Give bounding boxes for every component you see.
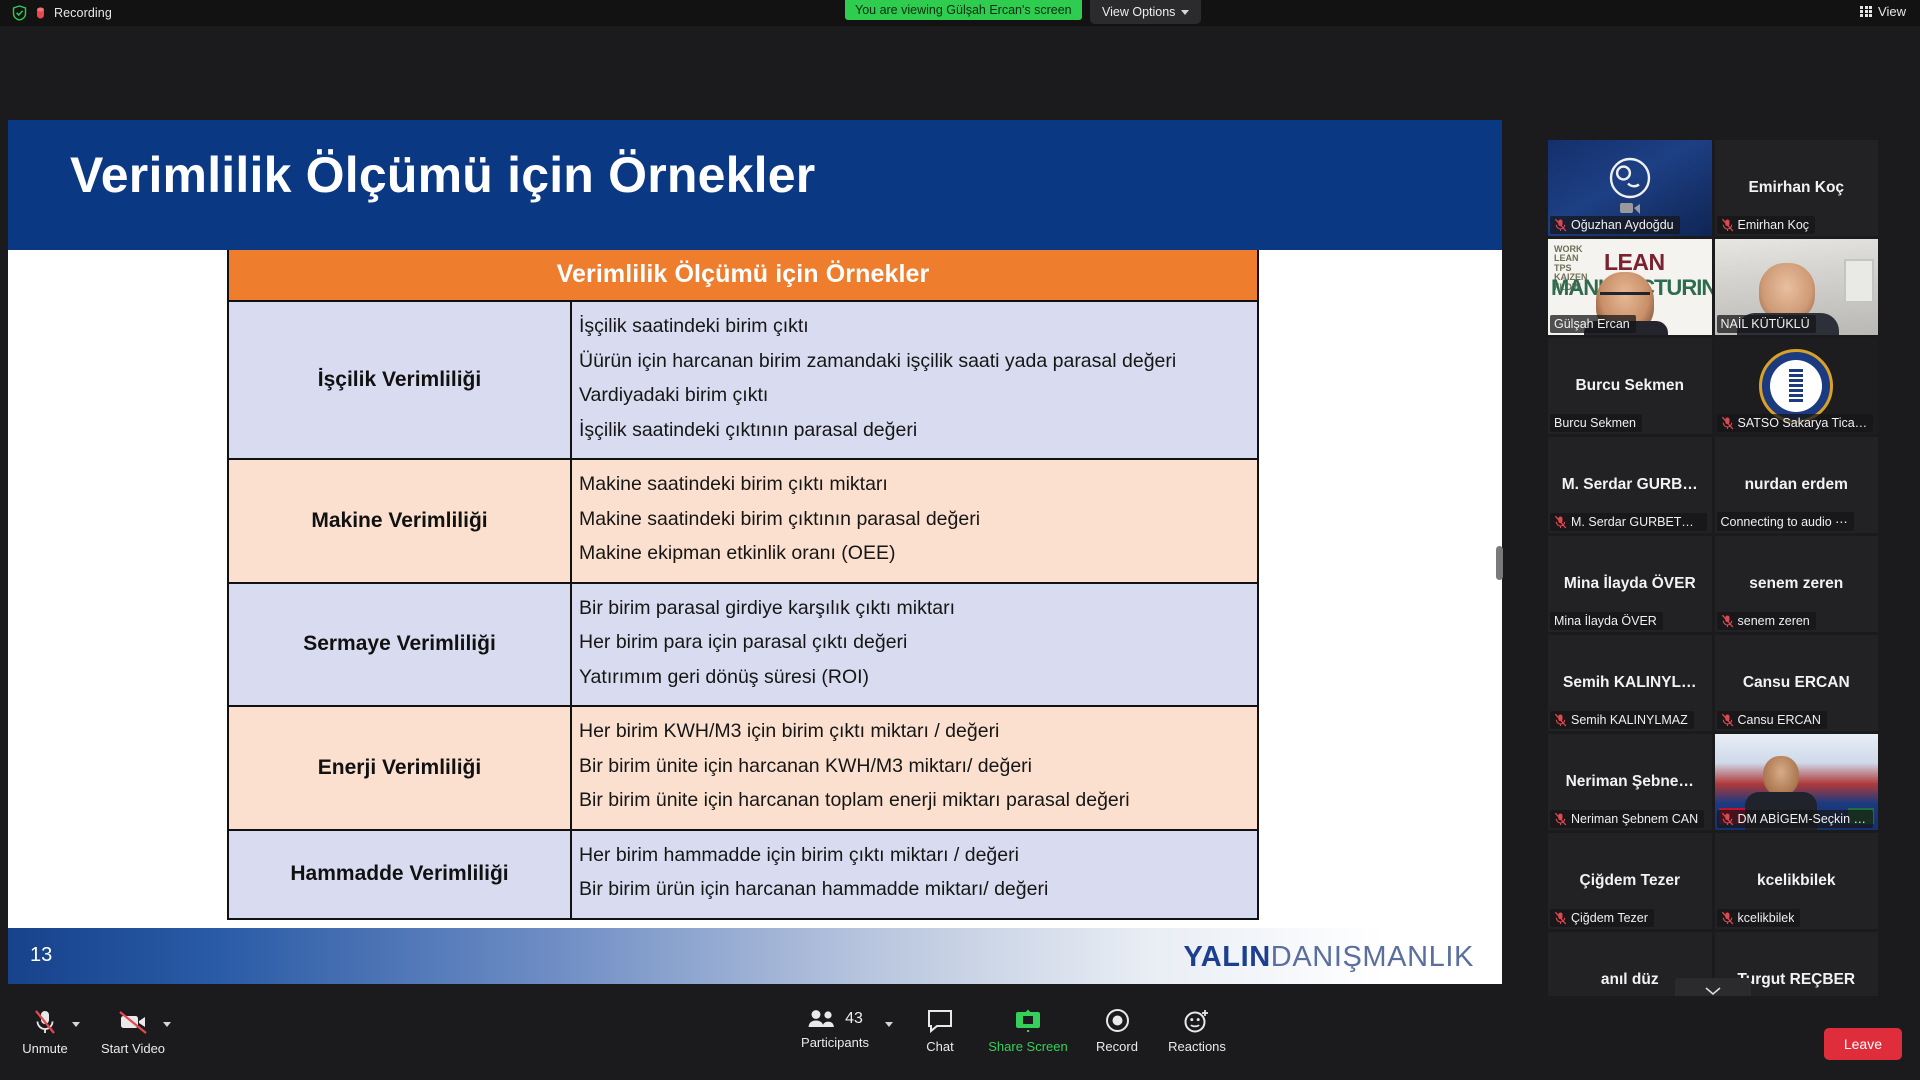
- participants-options-chevron-icon[interactable]: [885, 1022, 893, 1027]
- participant-tile[interactable]: WORKLEANTPSKAIZENFLOWLEANMANUFACTURINGGü…: [1548, 239, 1712, 335]
- logo-bold-text: YALIN: [1183, 941, 1270, 973]
- participant-name-label: Semih KALINYLMAZ: [1571, 713, 1688, 727]
- participant-name-badge: Çiğdem Tezer: [1550, 909, 1654, 927]
- row-value-item: Her birim para için parasal çıktı değeri: [579, 626, 1257, 661]
- table-row: Sermaye Verimliliği Bir birim parasal gi…: [229, 584, 1257, 708]
- participant-name-badge: DM ABİGEM-Seçkin S…: [1717, 810, 1874, 828]
- share-screen-button[interactable]: Share Screen: [983, 1008, 1073, 1054]
- security-shield-icon[interactable]: [12, 5, 27, 21]
- participant-tile[interactable]: Mina İlayda ÖVERMina İlayda ÖVER: [1548, 536, 1712, 632]
- row-values: Bir birim parasal girdiye karşılık çıktı…: [572, 584, 1257, 706]
- panel-resize-handle[interactable]: [1496, 546, 1503, 580]
- unmute-button[interactable]: Unmute: [0, 1008, 90, 1056]
- row-label: İşçilik Verimliliği: [229, 302, 572, 458]
- video-options-chevron-icon[interactable]: [163, 1022, 171, 1027]
- participant-name-label: Neriman Şebnem CAN: [1571, 812, 1698, 826]
- row-value-item: Üürün için harcanan birim zamandaki işçi…: [579, 345, 1257, 380]
- participants-icon: [807, 1008, 837, 1030]
- camera-muted-icon: [118, 1008, 148, 1036]
- efficiency-table: Verimlilik Ölçümü için Örnekler İşçilik …: [227, 250, 1259, 920]
- participant-center-name: nurdan erdem: [1739, 476, 1854, 494]
- participant-center-name: Çiğdem Tezer: [1574, 872, 1687, 890]
- view-button-label: View: [1878, 4, 1906, 19]
- table-row: Makine Verimliliği Makine saatindeki bir…: [229, 460, 1257, 584]
- record-icon: [1104, 1008, 1131, 1034]
- recording-label: Recording: [54, 6, 112, 20]
- table-header-cell: Verimlilik Ölçümü için Örnekler: [229, 250, 1257, 302]
- chevron-down-icon: [1181, 10, 1189, 15]
- muted-microphone-icon: [1554, 812, 1567, 826]
- participant-name-badge: NAİL KÜTÜKLÜ: [1717, 315, 1816, 333]
- logo-light-text: DANIŞMANLIK: [1271, 941, 1474, 973]
- participant-name-badge: Oğuzhan Aydoğdu: [1550, 216, 1680, 234]
- view-options-dropdown[interactable]: View Options: [1090, 0, 1201, 24]
- participant-name-badge: M. Serdar GURBETO…: [1550, 513, 1707, 531]
- reactions-button[interactable]: Reactions: [1152, 1008, 1242, 1054]
- row-value-item: Yatırımım geri dönüş süresi (ROI): [579, 661, 1257, 696]
- participant-tile[interactable]: kcelikbilekkcelikbilek: [1715, 833, 1879, 929]
- start-video-button[interactable]: Start Video: [88, 1008, 178, 1056]
- participant-name-label: NAİL KÜTÜKLÜ: [1721, 317, 1810, 331]
- muted-microphone-icon: [1721, 416, 1734, 430]
- participant-center-name: M. Serdar GURB…: [1556, 476, 1704, 494]
- muted-microphone-icon: [1721, 218, 1734, 232]
- recording-dot-icon: [34, 6, 47, 20]
- participant-tile[interactable]: nurdan erdemConnecting to audio ⋯: [1715, 437, 1879, 533]
- participant-tile[interactable]: Neriman Şebne…Neriman Şebnem CAN: [1548, 734, 1712, 830]
- muted-microphone-icon: [1721, 713, 1734, 727]
- row-value-item: Her birim KWH/M3 için birim çıktı miktar…: [579, 715, 1257, 750]
- muted-microphone-icon: [1554, 713, 1567, 727]
- meeting-controls-toolbar: Unmute Start Video 43 Participants Chat …: [0, 996, 1920, 1080]
- participant-name-badge: Neriman Şebnem CAN: [1550, 810, 1704, 828]
- microphone-muted-icon: [32, 1008, 58, 1036]
- record-button[interactable]: Record: [1072, 1008, 1162, 1054]
- row-values: Makine saatindeki birim çıktı miktarı Ma…: [572, 460, 1257, 582]
- recording-status: Recording: [0, 5, 112, 21]
- participants-label: Participants: [801, 1035, 869, 1050]
- muted-microphone-icon: [1554, 911, 1567, 925]
- participant-name-label: Mina İlayda ÖVER: [1554, 614, 1657, 628]
- share-screen-label: Share Screen: [988, 1039, 1068, 1054]
- row-value-item: Vardiyadaki birim çıktı: [579, 379, 1257, 414]
- participant-name-badge: Semih KALINYLMAZ: [1550, 711, 1694, 729]
- participant-center-name: anıl düz: [1595, 971, 1665, 989]
- unmute-label: Unmute: [22, 1041, 68, 1056]
- audio-options-chevron-icon[interactable]: [72, 1022, 80, 1027]
- participant-name-badge: kcelikbilek: [1717, 909, 1801, 927]
- view-options-label: View Options: [1102, 5, 1175, 19]
- participant-tile[interactable]: Oğuzhan AydoğduOğuzhan Aydoğdu: [1548, 140, 1712, 236]
- share-screen-icon: [1014, 1008, 1042, 1034]
- zoom-top-bar: Recording You are viewing Gülşah Ercan's…: [0, 0, 1920, 26]
- participant-name-label: DM ABİGEM-Seçkin S…: [1738, 812, 1868, 826]
- participant-name-label: senem zeren: [1738, 614, 1810, 628]
- participant-tile[interactable]: Semih KALINYL…Semih KALINYLMAZ: [1548, 635, 1712, 731]
- participant-name-label: Emirhan Koç: [1738, 218, 1810, 232]
- shared-screen-stage[interactable]: Verimlilik Ölçümü için Örnekler Verimlil…: [0, 26, 1540, 970]
- participant-name-label: Connecting to audio ⋯: [1721, 514, 1848, 529]
- participant-center-name: Emirhan Koç: [1742, 179, 1850, 197]
- participant-name-badge: SATSO Sakarya Ticar…: [1717, 414, 1874, 432]
- participant-center-name: kcelikbilek: [1751, 872, 1841, 890]
- row-label: Enerji Verimliliği: [229, 707, 572, 829]
- participant-name-label: kcelikbilek: [1738, 911, 1795, 925]
- record-label: Record: [1096, 1039, 1138, 1054]
- participants-video-panel[interactable]: Oğuzhan AydoğduOğuzhan AydoğduEmirhan Ko…: [1548, 140, 1878, 970]
- participant-name-label: M. Serdar GURBETO…: [1571, 515, 1701, 529]
- participant-name-label: Cansu ERCAN: [1738, 713, 1821, 727]
- muted-microphone-icon: [1721, 614, 1734, 628]
- row-label: Hammadde Verimliliği: [229, 831, 572, 918]
- participant-tile[interactable]: NAİL KÜTÜKLÜ: [1715, 239, 1879, 335]
- table-row: Hammadde Verimliliği Her birim hammadde …: [229, 831, 1257, 918]
- row-value-item: Bir birim ürün için harcanan hammadde mi…: [579, 873, 1257, 908]
- camera-off-icon: [1619, 200, 1641, 216]
- obs-logo-icon: [1608, 156, 1652, 200]
- participant-name-badge: senem zeren: [1717, 612, 1816, 630]
- participant-tile[interactable]: Emirhan KoçEmirhan Koç: [1715, 140, 1879, 236]
- view-layout-button[interactable]: View: [1860, 4, 1906, 19]
- participant-tile[interactable]: Burcu SekmenBurcu Sekmen: [1548, 338, 1712, 434]
- row-values: Her birim KWH/M3 için birim çıktı miktar…: [572, 707, 1257, 829]
- start-video-label: Start Video: [101, 1041, 165, 1056]
- row-value-item: Makine saatindeki birim çıktının parasal…: [579, 503, 1257, 538]
- participant-center-name: Mina İlayda ÖVER: [1558, 575, 1702, 593]
- participant-center-name: Semih KALINYL…: [1557, 674, 1702, 692]
- participant-center-name: Burcu Sekmen: [1569, 377, 1690, 395]
- row-value-item: İşçilik saatindeki birim çıktı: [579, 310, 1257, 345]
- participant-tile[interactable]: senem zerensenem zeren: [1715, 536, 1879, 632]
- participant-center-name: Cansu ERCAN: [1737, 674, 1856, 692]
- presentation-slide: Verimlilik Ölçümü için Örnekler Verimlil…: [8, 120, 1502, 984]
- participant-name-badge: Emirhan Koç: [1717, 216, 1816, 234]
- slide-page-number: 13: [30, 944, 52, 967]
- participant-name-badge: Mina İlayda ÖVER: [1550, 612, 1663, 630]
- row-label: Makine Verimliliği: [229, 460, 572, 582]
- muted-microphone-icon: [1721, 911, 1734, 925]
- participant-name-label: Oğuzhan Aydoğdu: [1571, 218, 1674, 232]
- participants-count: 43: [845, 1010, 863, 1028]
- participant-tile[interactable]: M. Serdar GURB…M. Serdar GURBETO…: [1548, 437, 1712, 533]
- chevron-down-icon: [1704, 986, 1722, 996]
- participant-name-label: Çiğdem Tezer: [1571, 911, 1648, 925]
- row-label: Sermaye Verimliliği: [229, 584, 572, 706]
- participant-tile[interactable]: SATSO Sakarya Ticar…: [1715, 338, 1879, 434]
- table-row: Enerji Verimliliği Her birim KWH/M3 için…: [229, 707, 1257, 831]
- reactions-label: Reactions: [1168, 1039, 1226, 1054]
- row-value-item: Makine saatindeki birim çıktı miktarı: [579, 468, 1257, 503]
- participant-grid: Oğuzhan AydoğduOğuzhan AydoğduEmirhan Ko…: [1548, 140, 1878, 1028]
- reactions-icon: [1183, 1008, 1211, 1034]
- slide-title: Verimlilik Ölçümü için Örnekler: [70, 146, 815, 204]
- row-value-item: Bir birim ünite için harcanan KWH/M3 mik…: [579, 750, 1257, 785]
- grid-view-icon: [1860, 6, 1872, 18]
- participant-name-badge: Connecting to audio ⋯: [1717, 512, 1854, 531]
- company-logo: YALINDANIŞMANLIK: [1183, 941, 1474, 974]
- row-value-item: İşçilik saatindeki çıktının parasal değe…: [579, 414, 1257, 449]
- chat-icon: [926, 1008, 954, 1034]
- participant-name-label: Burcu Sekmen: [1554, 416, 1636, 430]
- participant-tile[interactable]: DM ABİGEM-Seçkin S…: [1715, 734, 1879, 830]
- row-values: İşçilik saatindeki birim çıktı Üürün içi…: [572, 302, 1257, 458]
- table-row: İşçilik Verimliliği İşçilik saatindeki b…: [229, 302, 1257, 460]
- participants-button[interactable]: 43 Participants: [790, 1008, 880, 1050]
- participant-name-label: Gülşah Ercan: [1554, 317, 1630, 331]
- screen-share-notice: You are viewing Gülşah Ercan's screen: [845, 0, 1082, 20]
- participant-name-label: SATSO Sakarya Ticar…: [1738, 416, 1868, 430]
- muted-microphone-icon: [1554, 218, 1567, 232]
- chat-button[interactable]: Chat: [895, 1008, 985, 1054]
- participant-tile[interactable]: Cansu ERCANCansu ERCAN: [1715, 635, 1879, 731]
- row-value-item: Bir birim parasal girdiye karşılık çıktı…: [579, 592, 1257, 627]
- participant-name-badge: Gülşah Ercan: [1550, 315, 1636, 333]
- row-values: Her birim hammadde için birim çıktı mikt…: [572, 831, 1257, 918]
- muted-microphone-icon: [1721, 812, 1734, 826]
- row-value-item: Her birim hammadde için birim çıktı mikt…: [579, 839, 1257, 874]
- participant-center-name: Neriman Şebne…: [1560, 773, 1700, 791]
- row-value-item: Bir birim ünite için harcanan toplam ene…: [579, 784, 1257, 819]
- participant-center-name: senem zeren: [1743, 575, 1849, 593]
- participant-name-badge: Cansu ERCAN: [1717, 711, 1827, 729]
- row-value-item: Makine ekipman etkinlik oranı (OEE): [579, 537, 1257, 572]
- leave-button[interactable]: Leave: [1824, 1028, 1902, 1060]
- muted-microphone-icon: [1554, 515, 1567, 529]
- chat-label: Chat: [926, 1039, 953, 1054]
- participant-name-badge: Burcu Sekmen: [1550, 414, 1642, 432]
- participant-tile[interactable]: Çiğdem TezerÇiğdem Tezer: [1548, 833, 1712, 929]
